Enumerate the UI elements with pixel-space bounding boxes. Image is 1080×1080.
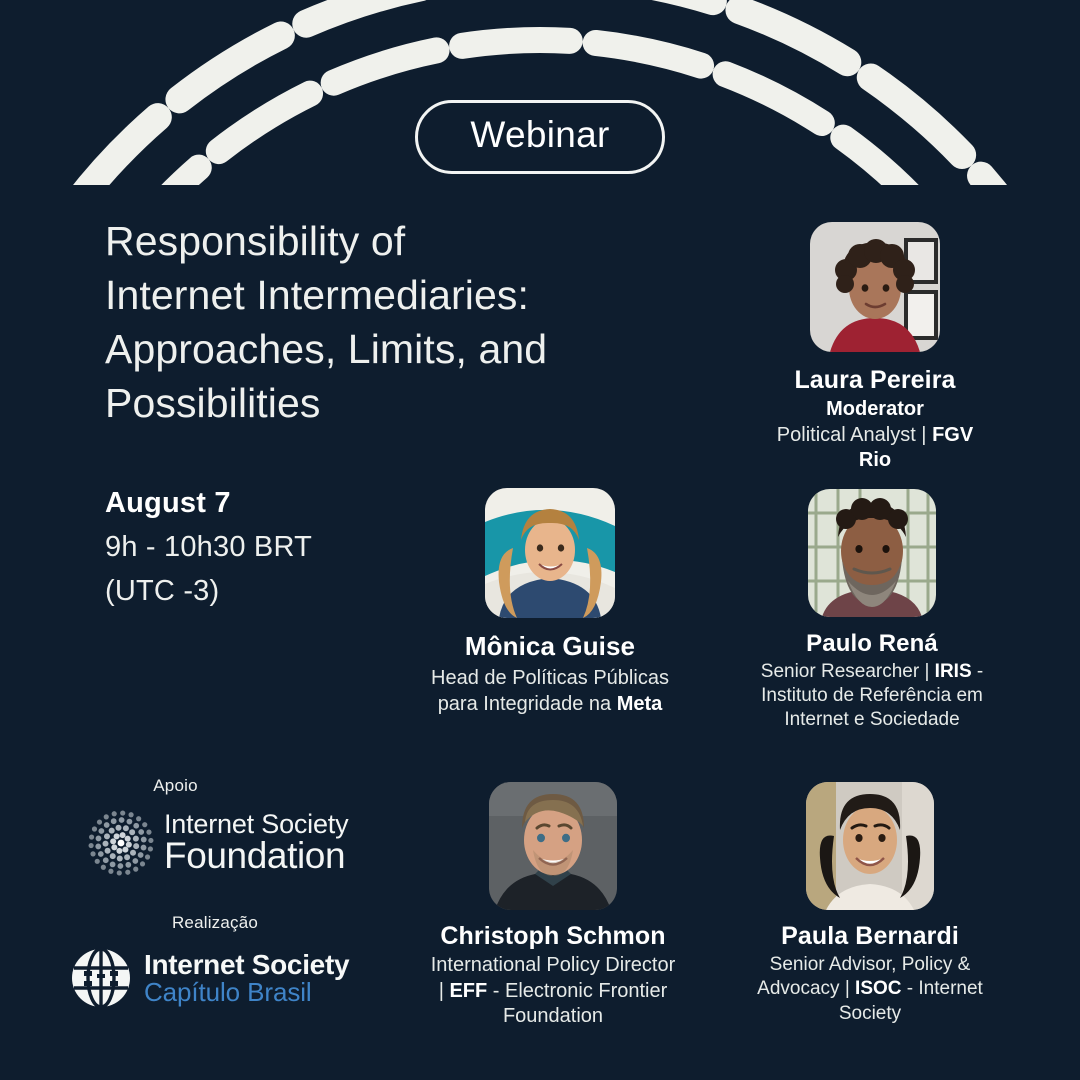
sponsor-realizacao-label: Realização — [70, 913, 360, 933]
speaker-name: Paulo Rená — [752, 630, 992, 658]
speaker-affiliation: Political Analyst | FGV Rio — [760, 423, 990, 473]
avatar-paulo — [808, 489, 936, 617]
speaker-affiliation: Senior Researcher | IRIS - Instituto de … — [752, 660, 992, 732]
webinar-badge-wrap: Webinar — [0, 100, 1080, 174]
sponsor-apoio-label: Apoio — [88, 776, 263, 796]
avatar-monica — [485, 488, 615, 618]
speaker-role-tag: Moderator — [760, 398, 990, 421]
webinar-badge: Webinar — [415, 100, 664, 174]
speaker-name: Christoph Schmon — [428, 922, 678, 951]
speaker-name: Laura Pereira — [760, 366, 990, 395]
isb-line-2: Capítulo Brasil — [144, 979, 349, 1005]
isf-line-2: Foundation — [164, 838, 348, 874]
page-title: Responsibility of Internet Intermediarie… — [105, 214, 665, 430]
speaker-card-laura: Laura Pereira Moderator Political Analys… — [760, 222, 990, 473]
speaker-affiliation: Senior Advisor, Policy & Advocacy | ISOC… — [745, 953, 995, 1026]
sponsor-apoio: Apoio Internet Society Foundation — [88, 776, 388, 876]
title-line-3: Approaches, Limits, and — [105, 322, 665, 376]
speaker-name: Mônica Guise — [430, 631, 670, 662]
avatar-paula — [806, 782, 934, 910]
internet-society-foundation-dotgrid-icon — [88, 810, 154, 876]
avatar-christoph — [489, 782, 617, 910]
title-line-1: Responsibility of — [105, 214, 665, 268]
sponsor-realizacao: Realização Internet Society Capítulo Bra… — [70, 913, 400, 1009]
speaker-card-monica: Mônica Guise Head de Políticas Públicas … — [430, 488, 670, 717]
title-line-2: Internet Intermediaries: — [105, 268, 665, 322]
isb-line-1: Internet Society — [144, 951, 349, 979]
speaker-card-paula: Paula Bernardi Senior Advisor, Policy & … — [745, 782, 995, 1026]
speaker-affiliation: Head de Políticas Públicas para Integrid… — [430, 665, 670, 717]
speaker-affiliation: International Policy Director | EFF - El… — [428, 953, 678, 1030]
internet-society-brasil-wordmark: Internet Society Capítulo Brasil — [144, 951, 349, 1005]
internet-society-globe-icon — [70, 947, 132, 1009]
internet-society-foundation-wordmark: Internet Society Foundation — [164, 812, 348, 873]
title-line-4: Possibilities — [105, 376, 665, 430]
speaker-card-christoph: Christoph Schmon International Policy Di… — [428, 782, 678, 1030]
speaker-name: Paula Bernardi — [745, 922, 995, 951]
avatar-laura — [810, 222, 940, 352]
speaker-card-paulo: Paulo Rená Senior Researcher | IRIS - In… — [752, 489, 992, 732]
